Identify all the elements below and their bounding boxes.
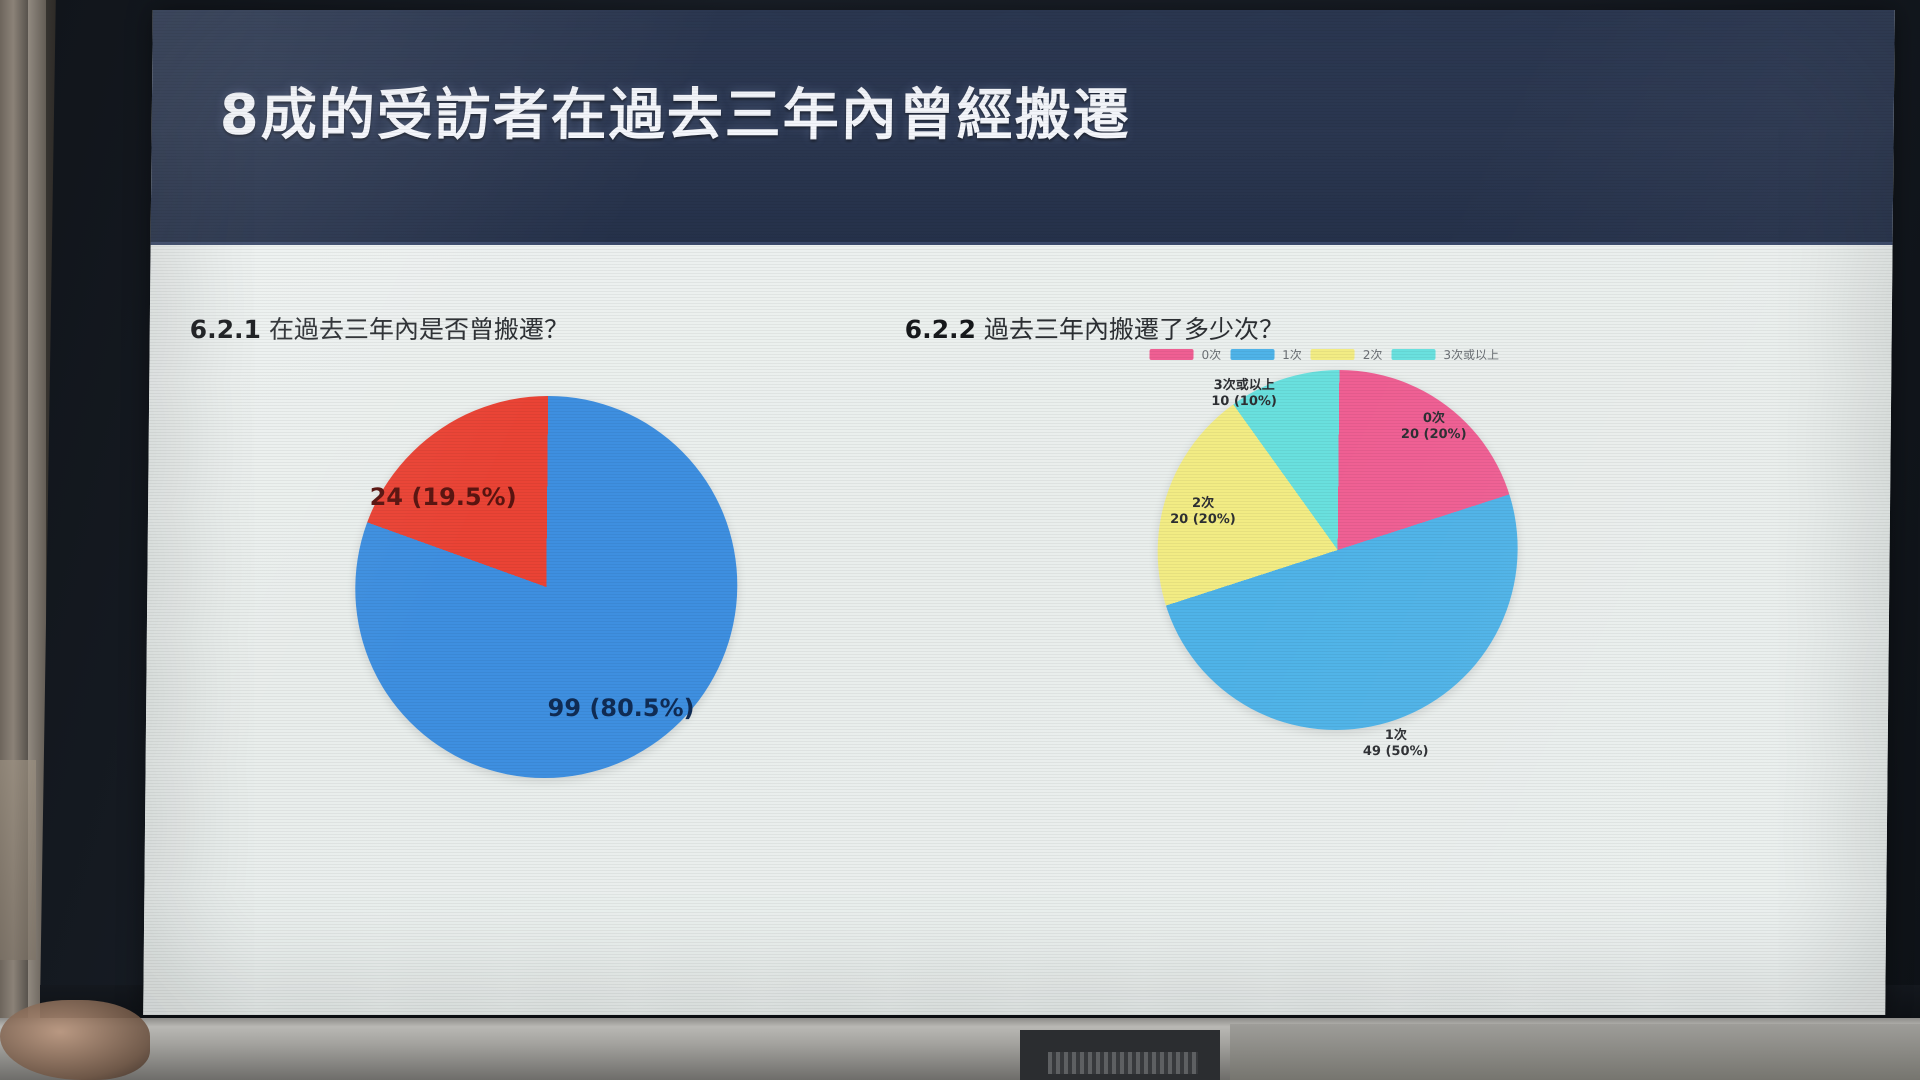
question-label-6-2-1: 6.2.1 在過去三年內是否曾搬遷？ <box>190 310 570 346</box>
pie-right-slice-label-3-or-more: 3次或以上 10 (10%) <box>1184 378 1304 411</box>
slide-body: 6.2.1 在過去三年內是否曾搬遷？ 6.2.2 過去三年內搬遷了多少次？ 是 <box>143 248 1892 1015</box>
room-floor-strip <box>0 760 36 960</box>
furniture-shelf-right <box>1230 1024 1920 1080</box>
legend-item-3-or-more: 3次或以上 <box>1391 346 1499 363</box>
legend-label-0-times: 0次 <box>1201 346 1221 363</box>
pie-right-slice-name-0-times: 0次 <box>1379 411 1489 427</box>
pie-right-slice-label-1-time: 1次 49 (50%) <box>1341 728 1451 761</box>
pie-left-slice-label-no: 24 (19.5%) <box>353 482 533 512</box>
photographed-screen-scene: 8成的受訪者在過去三年內曾經搬遷 6.2.1 在過去三年內是否曾搬遷？ 6.2.… <box>0 0 1920 1080</box>
slide-title: 8成的受訪者在過去三年內曾經搬遷 <box>219 70 1131 151</box>
equipment-vent <box>1048 1052 1198 1074</box>
pie-right-slice-value-0-times: 20 (20%) <box>1379 427 1489 443</box>
legend-swatch-icon-3-or-more <box>1391 349 1435 360</box>
pie-right-slice-label-0-times: 0次 20 (20%) <box>1379 411 1489 444</box>
presentation-slide: 8成的受訪者在過去三年內曾經搬遷 6.2.1 在過去三年內是否曾搬遷？ 6.2.… <box>143 10 1895 1015</box>
legend-swatch-icon-0-times <box>1149 349 1193 360</box>
pie-right-slice-label-2-times: 2次 20 (20%) <box>1148 496 1258 529</box>
pie-right-legend: 0次 1次 2次 3次或以上 <box>1149 346 1499 363</box>
legend-label-2-times: 2次 <box>1363 346 1383 363</box>
legend-label-3-or-more: 3次或以上 <box>1443 346 1499 363</box>
question-number-6-2-2: 6.2.2 <box>905 315 976 344</box>
legend-item-1-time: 1次 <box>1230 346 1302 363</box>
pie-right-slice-name-2-times: 2次 <box>1148 496 1258 512</box>
question-label-6-2-2: 6.2.2 過去三年內搬遷了多少次？ <box>905 310 1285 346</box>
pie-right-slice-value-2-times: 20 (20%) <box>1148 512 1258 528</box>
question-number-6-2-1: 6.2.1 <box>190 315 261 344</box>
pie-right-slice-name-1-time: 1次 <box>1341 728 1451 744</box>
question-text-6-2-1: 在過去三年內是否曾搬遷？ <box>269 315 569 344</box>
pie-right-slice-value-3-or-more: 10 (10%) <box>1184 394 1304 410</box>
pie-right-slice-name-3-or-more: 3次或以上 <box>1184 378 1304 394</box>
legend-label-1-time: 1次 <box>1282 346 1302 363</box>
slide-header-band: 8成的受訪者在過去三年內曾經搬遷 <box>151 10 1895 245</box>
pie-right-slice-value-1-time: 49 (50%) <box>1341 744 1451 760</box>
legend-item-2-times: 2次 <box>1311 346 1383 363</box>
pie-left-slice-label-yes: 99 (80.5%) <box>521 693 721 723</box>
legend-swatch-icon-2-times <box>1311 349 1355 360</box>
legend-swatch-icon-1-time <box>1230 349 1274 360</box>
legend-item-0-times: 0次 <box>1149 346 1221 363</box>
question-text-6-2-2: 過去三年內搬遷了多少次？ <box>984 315 1284 344</box>
